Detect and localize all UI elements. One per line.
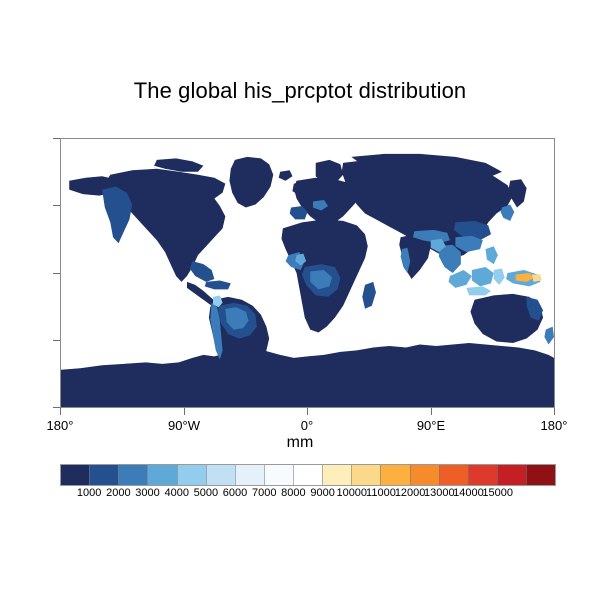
colorbar-segment-4 (177, 465, 206, 485)
colorbar-tick-13000: 13000 (424, 487, 455, 499)
colorbar-tick-4000: 4000 (164, 487, 188, 499)
colorbar-tick-8000: 8000 (281, 487, 305, 499)
colorbar-segment-14 (468, 465, 497, 485)
colorbar-segment-16 (526, 465, 555, 485)
x-tick-label-90e: 90°E (417, 418, 445, 433)
x-tickmark-180w (60, 408, 61, 415)
figure-canvas: The global his_prcptot distribution (0, 0, 600, 600)
colorbar-tick-7000: 7000 (252, 487, 276, 499)
colorbar-segment-0 (61, 465, 89, 485)
y-tickmark-45n (53, 205, 60, 206)
colorbar-segment-3 (147, 465, 176, 485)
colorbar-tick-15000: 15000 (482, 487, 513, 499)
colorbar-tick-2000: 2000 (106, 487, 130, 499)
y-tickmark-90n (53, 138, 60, 139)
x-tick-label-0: 0° (301, 418, 313, 433)
colorbar-tick-9000: 9000 (310, 487, 334, 499)
colorbar-segment-1 (89, 465, 118, 485)
colorbar-segment-7 (264, 465, 293, 485)
y-tickmark-0 (53, 273, 60, 274)
colorbar-tick-10000: 10000 (336, 487, 367, 499)
y-tickmark-90s (53, 407, 60, 408)
map-plot-area (60, 138, 555, 408)
colorbar-segment-15 (497, 465, 526, 485)
colorbar-tick-1000: 1000 (77, 487, 101, 499)
x-tickmark-90w (184, 408, 185, 415)
colorbar-segment-12 (410, 465, 439, 485)
y-tickmark-45s (53, 340, 60, 341)
x-tickmark-0 (307, 408, 308, 415)
x-axis-label: mm (0, 434, 600, 452)
colorbar-segment-8 (293, 465, 322, 485)
colorbar[interactable] (60, 464, 556, 486)
colorbar-segment-9 (322, 465, 351, 485)
x-tickmark-180e (554, 408, 555, 415)
colorbar-segment-2 (118, 465, 147, 485)
chart-title: The global his_prcptot distribution (0, 78, 600, 104)
colorbar-tick-12000: 12000 (395, 487, 426, 499)
colorbar-segment-13 (439, 465, 468, 485)
x-tickmark-90e (431, 408, 432, 415)
colorbar-tick-5000: 5000 (194, 487, 218, 499)
colorbar-tick-14000: 14000 (453, 487, 484, 499)
x-tick-label-180e: 180° (541, 418, 568, 433)
colorbar-tick-11000: 11000 (366, 487, 396, 499)
x-tick-label-180w: 180° (47, 418, 74, 433)
colorbar-segment-10 (351, 465, 380, 485)
world-map (61, 139, 554, 407)
colorbar-segment-5 (206, 465, 235, 485)
colorbar-segment-11 (380, 465, 409, 485)
colorbar-segment-6 (235, 465, 264, 485)
colorbar-tick-3000: 3000 (135, 487, 159, 499)
x-tick-label-90w: 90°W (168, 418, 200, 433)
colorbar-tick-6000: 6000 (223, 487, 247, 499)
